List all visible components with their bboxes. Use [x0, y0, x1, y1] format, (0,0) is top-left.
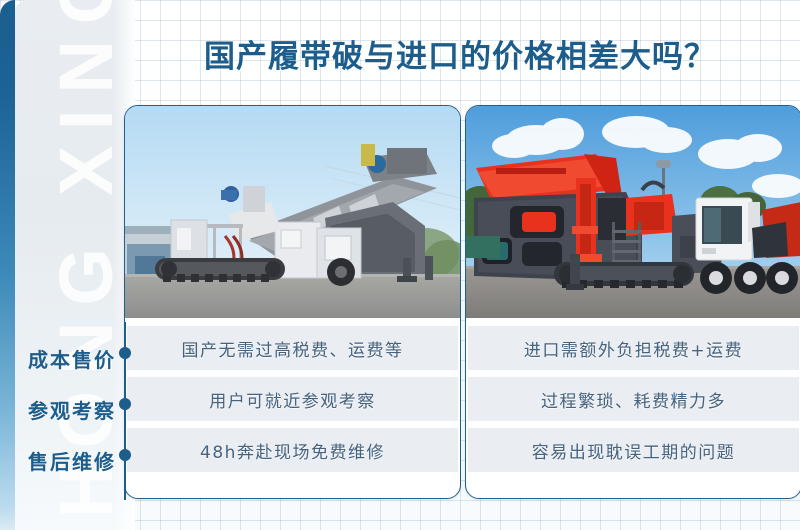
connector-dot-cost	[119, 347, 131, 359]
row-label-visit: 参观考察	[8, 395, 116, 424]
row-label-column: 成本售价 参观考察 售后维修	[8, 330, 128, 505]
row-label-cost: 成本售价	[8, 344, 116, 373]
comparison-card-imported[interactable]: 进口需额外负担税费+运费 过程繁琐、耗费精力多 容易出现耽误工期的问题	[465, 105, 800, 499]
table-row: 用户可就近参观考察	[127, 377, 458, 421]
table-row: 48h奔赴现场免费维修	[127, 428, 458, 472]
table-row: 过程繁琐、耗费精力多	[468, 377, 799, 421]
domestic-tracked-crusher-photo	[125, 106, 460, 318]
connector-dot-visit	[119, 398, 131, 410]
domestic-row-list: 国产无需过高税费、运费等 用户可就近参观考察 48h奔赴现场免费维修	[125, 318, 460, 478]
table-row: 国产无需过高税费、运费等	[127, 326, 458, 370]
infographic-canvas: HONG XING 国产履带破与进口的价格相差大吗？ 成本售价 参观考察 售后维…	[0, 0, 800, 530]
page-title: 国产履带破与进口的价格相差大吗？	[135, 26, 785, 81]
comparison-card-domestic[interactable]: 国产无需过高税费、运费等 用户可就近参观考察 48h奔赴现场免费维修	[124, 105, 461, 499]
table-row: 进口需额外负担税费+运费	[468, 326, 799, 370]
table-row: 容易出现耽误工期的问题	[468, 428, 799, 472]
row-label-service: 售后维修	[8, 446, 116, 475]
connector-dot-service	[119, 449, 131, 461]
imported-row-list: 进口需额外负担税费+运费 过程繁琐、耗费精力多 容易出现耽误工期的问题	[466, 318, 800, 478]
imported-tracked-crusher-photo	[466, 106, 800, 318]
